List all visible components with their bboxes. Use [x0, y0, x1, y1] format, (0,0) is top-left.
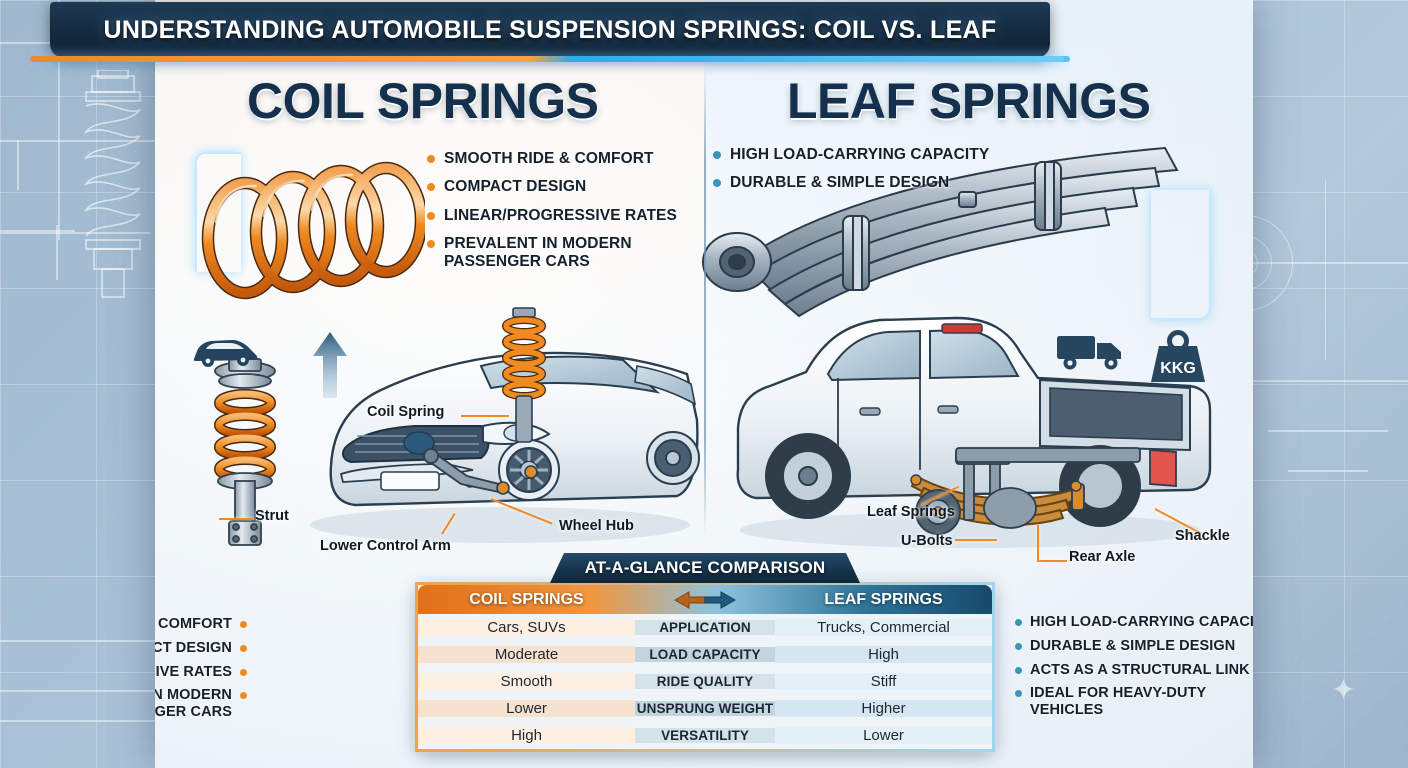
bullet-icon [240, 669, 247, 676]
cell-attribute: LOAD CAPACITY [635, 647, 775, 662]
truck-icon [1055, 330, 1127, 372]
list-item: COMPACT DESIGN [155, 640, 247, 657]
cell-attribute: APPLICATION [635, 620, 775, 635]
list-item-label: DURABLE & SIMPLE DESIGN [1030, 638, 1235, 655]
coil-spring-illustration [190, 150, 425, 320]
cell-coil-value: Moderate [418, 646, 635, 663]
table-row: Lower UNSPRUNG WEIGHT Higher [418, 695, 992, 722]
list-item: HIGH LOAD-CARRYING CAPACITY [1015, 614, 1253, 631]
bullet-icon [427, 155, 435, 163]
sedan-icon [190, 335, 260, 369]
cell-leaf-value: Higher [775, 700, 992, 717]
blueprint-line [1233, 380, 1408, 382]
blueprint-line [1325, 180, 1327, 360]
arrow-up-icon [310, 330, 350, 400]
bullet-icon [240, 692, 247, 699]
callout-leader-line [219, 518, 253, 520]
list-item: DURABLE & SIMPLE DESIGN [1015, 638, 1253, 655]
bullet-icon [427, 183, 435, 191]
bullet-icon [240, 621, 247, 628]
table-row: Moderate LOAD CAPACITY High [418, 641, 992, 668]
bullet-icon [713, 151, 721, 159]
table-header-leaf: LEAF SPRINGS [775, 591, 992, 609]
table-row: Smooth RIDE QUALITY Stiff [418, 668, 992, 695]
cell-coil-value: Lower [418, 700, 635, 717]
leaf-summary-list: HIGH LOAD-CARRYING CAPACITY DURABLE & SI… [1015, 614, 1253, 726]
cell-attribute: VERSATILITY [635, 728, 775, 743]
cell-leaf-value: Stiff [775, 673, 992, 690]
list-item-label: COMPACT DESIGN [444, 178, 586, 196]
bullet-icon [427, 240, 435, 248]
list-item: LINEAR/PROGRESSIVE RATES [155, 664, 247, 681]
table-row: High VERSATILITY Lower [418, 722, 992, 749]
blueprint-line [17, 140, 19, 190]
blueprint-coil-drawing [78, 70, 148, 300]
cell-coil-value: Cars, SUVs [418, 619, 635, 636]
callout-u-bolts: U-Bolts [901, 533, 953, 549]
bullet-icon [1015, 690, 1022, 697]
table-header-coil: COIL SPRINGS [418, 591, 635, 609]
callout-strut: Strut [255, 508, 289, 524]
double-arrow-icon [635, 590, 775, 610]
section-heading-coil: COIL SPRINGS [247, 72, 598, 130]
callout-rear-axle: Rear Axle [1069, 549, 1135, 565]
bullet-icon [1015, 643, 1022, 650]
page-title: UNDERSTANDING AUTOMOBILE SUSPENSION SPRI… [104, 16, 997, 45]
list-item: ACTS AS A STRUCTURAL LINK [1015, 662, 1253, 679]
comparison-banner: AT-A-GLANCE COMPARISON [550, 553, 860, 583]
callout-wheel-hub: Wheel Hub [559, 518, 634, 534]
list-item-label: IDEAL FOR HEAVY-DUTY VEHICLES [1030, 685, 1253, 719]
table-row: Cars, SUVs APPLICATION Trucks, Commercia… [418, 614, 992, 641]
cell-coil-value: Smooth [418, 673, 635, 690]
bullet-icon [1015, 619, 1022, 626]
leaf-feature-list: HIGH LOAD-CARRYING CAPACITY DURABLE & SI… [713, 146, 1043, 203]
infographic-panel: COIL SPRINGS LEAF SPRINGS [155, 0, 1253, 768]
list-item: DURABLE & SIMPLE DESIGN [713, 174, 1043, 192]
list-item: COMPACT DESIGN [427, 178, 679, 196]
list-item-label: LINEAR/PROGRESSIVE RATES [444, 207, 677, 225]
callout-leader-line [1037, 560, 1067, 562]
list-item: PREVALENT IN MODERN PASSENGER CARS [155, 687, 247, 721]
list-item: PREVALENT IN MODERN PASSENGER CARS [427, 235, 679, 272]
title-underline-glow [36, 56, 1064, 62]
cell-attribute: RIDE QUALITY [635, 674, 775, 689]
blueprint-line [1228, 262, 1408, 264]
cell-leaf-value: High [775, 646, 992, 663]
bullet-icon [427, 212, 435, 220]
list-item-label: PREVALENT IN MODERN PASSENGER CARS [155, 687, 232, 721]
list-item-label: COMPACT DESIGN [155, 640, 232, 657]
list-item: IDEAL FOR HEAVY-DUTY VEHICLES [1015, 685, 1253, 719]
pickup-truck-illustration [720, 300, 1220, 555]
callout-leader-line [461, 415, 509, 417]
cell-coil-value: High [418, 727, 635, 744]
sparkle-icon: ✦ [1331, 673, 1356, 708]
weight-icon: KKG [1147, 330, 1209, 384]
callout-leader-line [955, 539, 997, 541]
comparison-table: COIL SPRINGS LEAF SPRINGS Cars, SUVs APP… [415, 582, 995, 752]
coil-summary-list: SMOOTH RIDE & COMFORT COMPACT DESIGN LIN… [155, 616, 247, 728]
list-item-label: LINEAR/PROGRESSIVE RATES [155, 664, 232, 681]
blueprint-line [0, 640, 160, 642]
callout-shackle: Shackle [1175, 528, 1230, 544]
callout-leader-line [1037, 525, 1039, 561]
list-item-label: PREVALENT IN MODERN PASSENGER CARS [444, 235, 679, 272]
blueprint-line [1268, 430, 1388, 432]
column-divider [704, 68, 706, 538]
list-item: LINEAR/PROGRESSIVE RATES [427, 207, 679, 225]
callout-lower-control-arm: Lower Control Arm [320, 538, 451, 554]
bullet-icon [240, 645, 247, 652]
list-item-label: SMOOTH RIDE & COMFORT [155, 616, 232, 633]
section-heading-leaf: LEAF SPRINGS [787, 72, 1150, 130]
list-item: HIGH LOAD-CARRYING CAPACITY [713, 146, 1043, 164]
list-item-label: DURABLE & SIMPLE DESIGN [730, 174, 949, 192]
table-header-row: COIL SPRINGS LEAF SPRINGS [418, 585, 992, 614]
bullet-icon [1015, 667, 1022, 674]
bullet-icon [713, 179, 721, 187]
weight-icon-label: KKG [1160, 360, 1196, 377]
list-item-label: HIGH LOAD-CARRYING CAPACITY [1030, 614, 1253, 631]
list-item-label: ACTS AS A STRUCTURAL LINK [1030, 662, 1250, 679]
cell-leaf-value: Trucks, Commercial [775, 619, 992, 636]
blueprint-line [0, 720, 160, 722]
list-item-label: HIGH LOAD-CARRYING CAPACITY [730, 146, 989, 164]
comparison-banner-label: AT-A-GLANCE COMPARISON [585, 558, 826, 578]
coil-feature-list: SMOOTH RIDE & COMFORT COMPACT DESIGN LIN… [427, 150, 679, 281]
blueprint-line [0, 690, 160, 692]
blueprint-line [1288, 470, 1368, 472]
cell-leaf-value: Lower [775, 727, 992, 744]
list-item: SMOOTH RIDE & COMFORT [427, 150, 679, 168]
callout-leaf-springs: Leaf Springs [867, 504, 955, 520]
cell-attribute: UNSPRUNG WEIGHT [635, 701, 775, 716]
infographic-title-bar: UNDERSTANDING AUTOMOBILE SUSPENSION SPRI… [50, 2, 1050, 58]
callout-coil-spring: Coil Spring [367, 404, 444, 420]
list-item: SMOOTH RIDE & COMFORT [155, 616, 247, 633]
list-item-label: SMOOTH RIDE & COMFORT [444, 150, 654, 168]
